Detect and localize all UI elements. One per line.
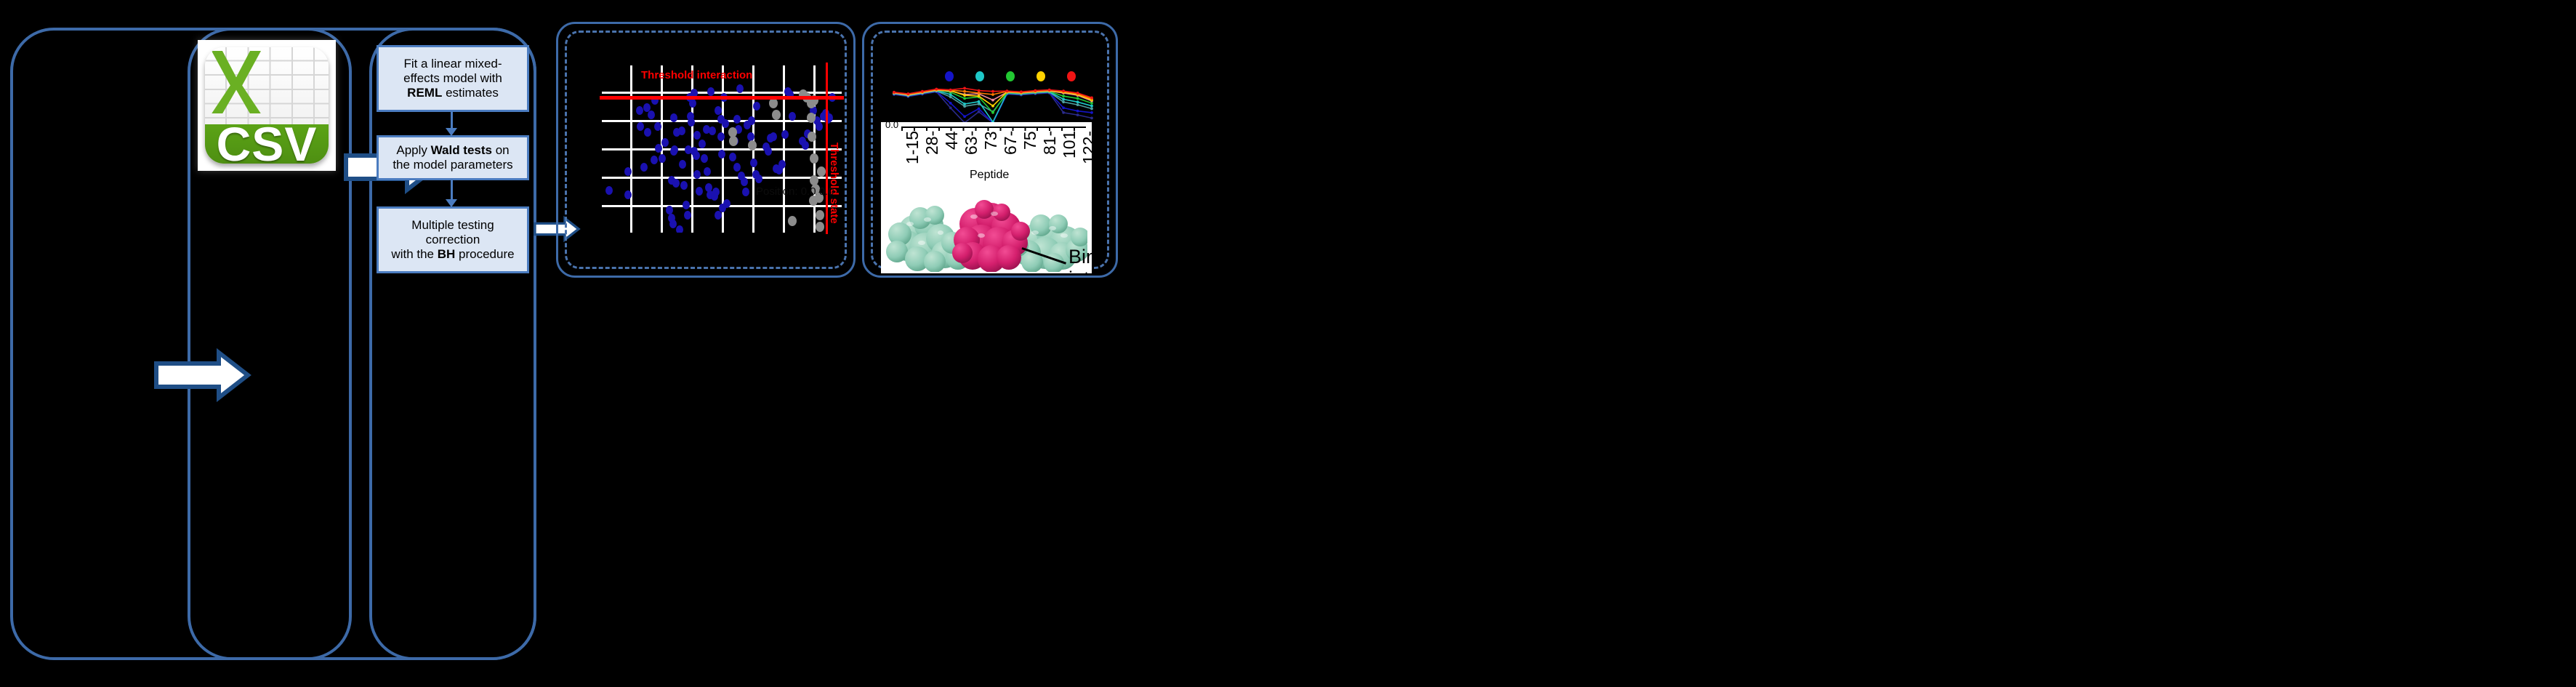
chart-data-point	[963, 94, 966, 97]
chart-data-point	[963, 103, 966, 105]
chart-data-point	[1090, 117, 1093, 120]
chart-data-point	[991, 111, 994, 114]
excel-x-icon	[212, 51, 261, 113]
chart-data-point	[1048, 89, 1051, 92]
threshold-interaction-label: Threshold interaction	[641, 69, 752, 81]
chart-data-point	[978, 89, 981, 92]
arrow-input-to-csv	[155, 350, 249, 400]
chart-data-point	[949, 102, 952, 105]
legend-dot-blue	[945, 71, 954, 81]
chart-data-point	[1020, 90, 1023, 93]
legend-dot-red	[1067, 71, 1076, 81]
legend-dot-yellow	[1037, 71, 1045, 81]
chart-data-point	[1076, 100, 1079, 103]
chart-data-point	[1090, 105, 1093, 108]
chart-data-point	[1062, 111, 1065, 114]
scatter-plot	[602, 65, 842, 233]
step-bh-box[interactable]: Multiple testing correction with the BH …	[377, 206, 529, 273]
csv-type-band: CSV	[205, 124, 329, 164]
chart-data-point	[1076, 110, 1079, 113]
chart-data-point	[963, 115, 966, 118]
tick-label: 63-73	[962, 131, 1001, 170]
peptide-line-chart	[888, 81, 1099, 125]
chart-data-point	[1006, 89, 1009, 92]
peptide-chart-legend	[945, 71, 1076, 81]
tick-label: 28-44	[922, 131, 962, 170]
chart-data-point	[893, 91, 895, 94]
step-bh-text: Multiple testing correction with the BH …	[385, 218, 521, 262]
chart-data-point	[949, 107, 952, 110]
step-wald-box[interactable]: Apply Wald tests on the model parameters	[377, 135, 529, 180]
chart-data-point	[1090, 111, 1093, 114]
tick-label: 67-75	[1001, 131, 1040, 170]
chart-data-point	[978, 111, 981, 113]
threshold-state-label: Threshold state	[828, 142, 840, 224]
step-wald-text: Apply Wald tests on the model parameters	[385, 143, 521, 172]
chart-data-point	[1062, 107, 1065, 110]
y-axis-tick-label: 0.0	[885, 122, 898, 130]
chart-data-point	[991, 93, 994, 96]
connector-model-wald	[451, 112, 453, 129]
chart-data-point	[991, 90, 994, 93]
chart-data-point	[978, 108, 981, 111]
flowchart-canvas: CSV Fit a linear mixed- effects model wi…	[0, 0, 2576, 687]
chart-data-point	[963, 87, 966, 90]
tick-label: 81-101	[1040, 131, 1079, 170]
chart-data-point	[949, 95, 952, 98]
legend-dot-green	[1006, 71, 1015, 81]
chart-data-point	[1090, 97, 1093, 100]
step-model-text: Fit a linear mixed- effects model with R…	[385, 57, 521, 100]
panel-analysis	[369, 28, 536, 660]
chart-data-point	[1076, 113, 1079, 116]
chart-data-point	[1062, 89, 1065, 92]
chart-data-point	[1062, 100, 1065, 103]
step-model-box[interactable]: Fit a linear mixed- effects model with R…	[377, 45, 529, 112]
chart-data-point	[907, 92, 910, 95]
chart-series-line	[894, 92, 1092, 123]
tick-label: 1-15	[903, 131, 922, 170]
connector-wald-bh	[451, 180, 453, 201]
chart-data-point	[1076, 92, 1079, 95]
chart-data-point	[991, 99, 994, 102]
chart-data-point	[1062, 95, 1065, 97]
csv-type-label: CSV	[217, 116, 318, 164]
tick-label: 122-129	[1079, 131, 1092, 170]
x-axis-title: Peptide	[970, 169, 1009, 182]
chart-data-point	[949, 89, 952, 92]
csv-file-icon: CSV	[198, 40, 336, 171]
chart-data-point	[963, 90, 966, 93]
peptide-tick-labels: 1-15 28-44 63-73 67-75 81-101 122-129 13…	[903, 131, 1086, 170]
threshold-interaction-line	[600, 96, 844, 100]
binding-interface-label: Binding interface	[1068, 246, 1092, 273]
chart-data-point	[1076, 103, 1079, 106]
chart-data-point	[963, 97, 966, 100]
scatter-inline-readout: Position: 0.0 0.0	[756, 185, 834, 198]
scatter-points	[602, 65, 842, 233]
chart-data-point	[978, 95, 981, 97]
chart-data-point	[978, 92, 981, 95]
chart-data-point	[921, 90, 924, 93]
legend-dot-cyan	[975, 71, 984, 81]
chart-data-point	[978, 100, 981, 103]
chart-data-point	[1062, 98, 1065, 101]
chart-data-point	[1090, 108, 1093, 111]
chart-data-point	[935, 88, 938, 91]
structure-figure-panel: 0.0 1-15 28-44 63-73 67-75 81-101 122-12…	[881, 122, 1092, 273]
chart-data-point	[991, 105, 994, 108]
chart-data-point	[1034, 89, 1037, 92]
chart-data-point	[1076, 97, 1079, 100]
